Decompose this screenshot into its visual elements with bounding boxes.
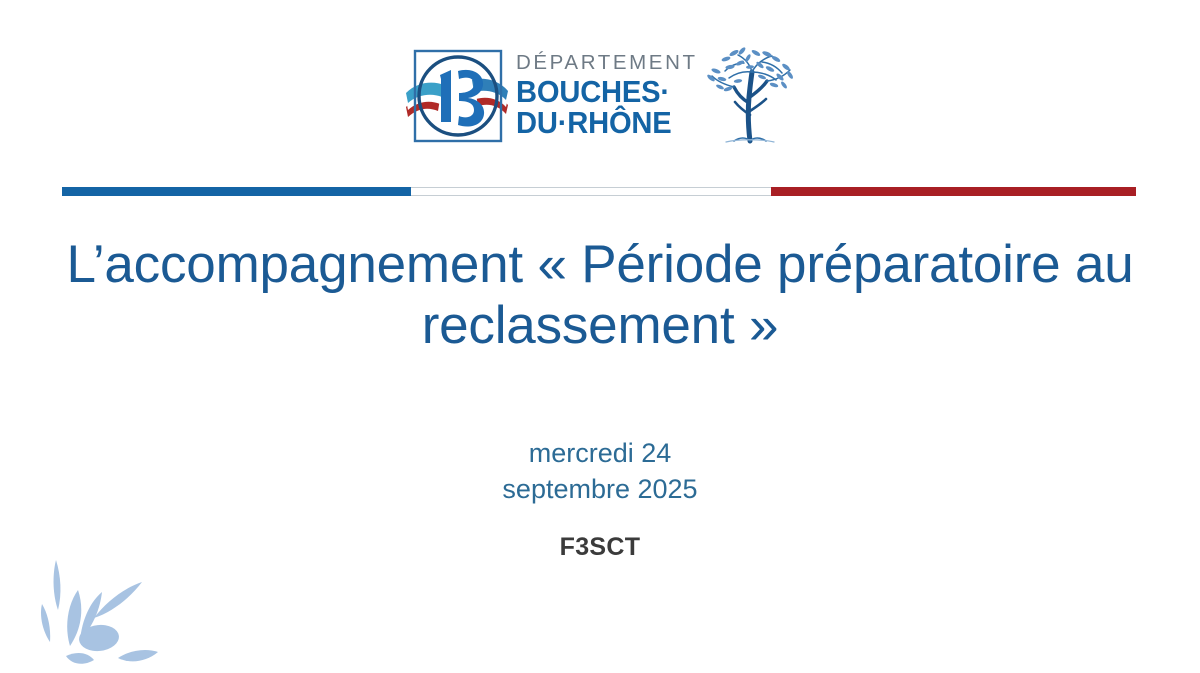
page-title: L’accompagnement « Période préparatoire … (0, 234, 1200, 357)
departement-13-emblem-icon (404, 45, 512, 147)
logo-name-line-1: BOUCHES· (516, 76, 687, 108)
tricolor-white-segment (411, 187, 771, 196)
slide-date: mercredi 24 septembre 2025 (0, 436, 1200, 508)
logo-wordmark: DÉPARTEMENT BOUCHES· DU·RHÔNE (516, 48, 698, 144)
departement-logo: DÉPARTEMENT BOUCHES· DU·RHÔNE (404, 42, 794, 150)
tricolor-blue-segment (62, 187, 411, 196)
logo-departement-label: DÉPARTEMENT (516, 53, 698, 74)
olive-leaves-icon (26, 552, 186, 670)
olive-tree-icon (704, 45, 796, 147)
tricolor-red-segment (771, 187, 1136, 196)
tricolor-divider (62, 187, 1136, 196)
title-slide: DÉPARTEMENT BOUCHES· DU·RHÔNE (0, 0, 1200, 673)
logo-name-line-2: DU·RHÔNE (516, 107, 687, 139)
